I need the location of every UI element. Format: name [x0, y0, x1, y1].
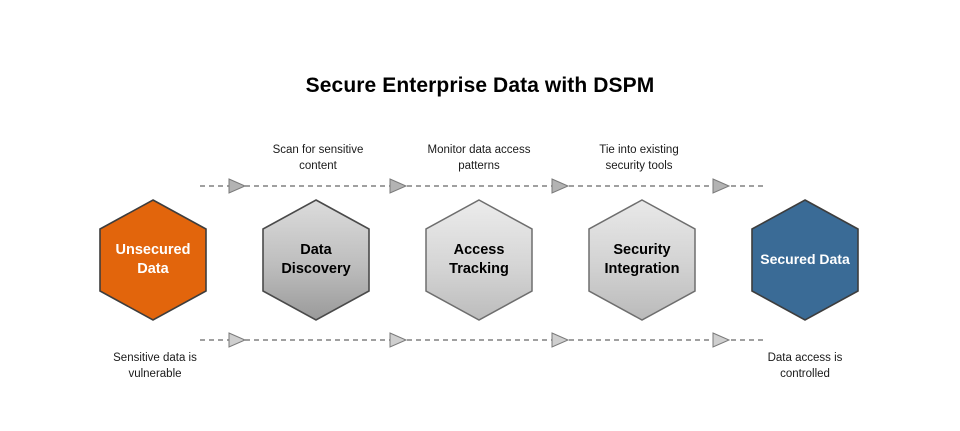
- annotation-monitor-data-access-patterns: Monitor data access patterns: [404, 143, 554, 174]
- arrowhead-top-3: [552, 179, 568, 193]
- annotation-sensitive-data-is-vulnerable: Sensitive data is vulnerable: [80, 351, 230, 382]
- node-secured-data[interactable]: Secured Data: [751, 199, 859, 321]
- arrowhead-bottom-2: [390, 333, 406, 347]
- node-data-discovery[interactable]: Data Discovery: [262, 199, 370, 321]
- arrowhead-top-1: [229, 179, 245, 193]
- arrowhead-bottom-1: [229, 333, 245, 347]
- annotation-scan-for-sensitive-content: Scan for sensitive content: [243, 143, 393, 174]
- arrowhead-top-2: [390, 179, 406, 193]
- node-security-integration[interactable]: Security Integration: [588, 199, 696, 321]
- diagram-canvas: Secure Enterprise Data with DSPM: [0, 0, 960, 431]
- annotation-data-access-is-controlled: Data access is controlled: [730, 351, 880, 382]
- node-label-access-tracking: Access Tracking: [425, 199, 533, 321]
- arrowhead-bottom-4: [713, 333, 729, 347]
- node-label-secured-data: Secured Data: [751, 199, 859, 321]
- node-access-tracking[interactable]: Access Tracking: [425, 199, 533, 321]
- top-rail: [200, 179, 766, 193]
- node-label-unsecured-data: Unsecured Data: [99, 199, 207, 321]
- bottom-rail: [200, 333, 766, 347]
- arrowhead-top-4: [713, 179, 729, 193]
- node-label-data-discovery: Data Discovery: [262, 199, 370, 321]
- node-unsecured-data[interactable]: Unsecured Data: [99, 199, 207, 321]
- annotation-tie-into-existing-security-tools: Tie into existing security tools: [564, 143, 714, 174]
- node-label-security-integration: Security Integration: [588, 199, 696, 321]
- arrowhead-bottom-3: [552, 333, 568, 347]
